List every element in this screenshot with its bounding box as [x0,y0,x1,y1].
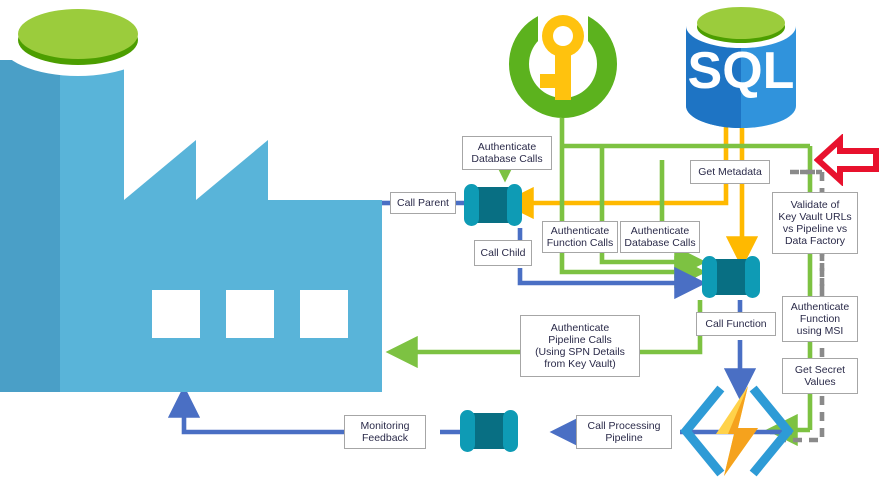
label-text: Authenticate Pipeline Calls (Using SPN D… [524,322,636,370]
label-authenticate-pipeline-calls[interactable]: Authenticate Pipeline Calls (Using SPN D… [520,315,640,377]
label-text: Authenticate Function Calls [546,225,614,249]
label-authenticate-function-using-msi[interactable]: Authenticate Function using MSI [782,296,858,342]
label-text: Validate of Key Vault URLs vs Pipeline v… [776,199,854,247]
pipeline-processing-icon [458,408,520,454]
label-text: Monitoring Feedback [348,420,422,444]
label-validate-key-vault-urls[interactable]: Validate of Key Vault URLs vs Pipeline v… [772,192,858,254]
label-text: Get Secret Values [786,364,854,388]
label-text: Call Processing Pipeline [580,420,668,444]
label-monitoring-feedback[interactable]: Monitoring Feedback [344,415,426,449]
label-text: Call Child [478,247,528,259]
label-authenticate-database-calls-mid[interactable]: Authenticate Database Calls [620,221,700,253]
label-text: Authenticate Function using MSI [786,301,854,337]
label-text: Authenticate Database Calls [624,225,696,249]
diagram-canvas: SQL Authenticate Database Calls Call Par [0,0,882,478]
azure-function-icon [676,384,798,478]
pipeline-child-icon [700,255,762,299]
label-text: Call Parent [394,197,452,209]
data-factory-icon [0,0,392,396]
pipeline-parent-icon [462,183,524,227]
label-text: Get Metadata [694,166,766,178]
label-get-metadata[interactable]: Get Metadata [690,160,770,184]
label-authenticate-database-calls-top[interactable]: Authenticate Database Calls [462,136,552,170]
sql-database-label: SQL [688,42,795,100]
label-text: Call Function [700,318,772,330]
label-text: Authenticate Database Calls [466,141,548,165]
label-get-secret-values[interactable]: Get Secret Values [782,358,858,394]
label-call-function[interactable]: Call Function [696,312,776,336]
label-call-parent[interactable]: Call Parent [390,192,456,214]
red-callout-arrow-icon [814,134,880,186]
label-call-processing-pipeline[interactable]: Call Processing Pipeline [576,415,672,449]
label-call-child[interactable]: Call Child [474,240,532,266]
label-authenticate-function-calls[interactable]: Authenticate Function Calls [542,221,618,253]
key-vault-icon [502,2,624,122]
sql-database-icon: SQL [678,2,804,130]
